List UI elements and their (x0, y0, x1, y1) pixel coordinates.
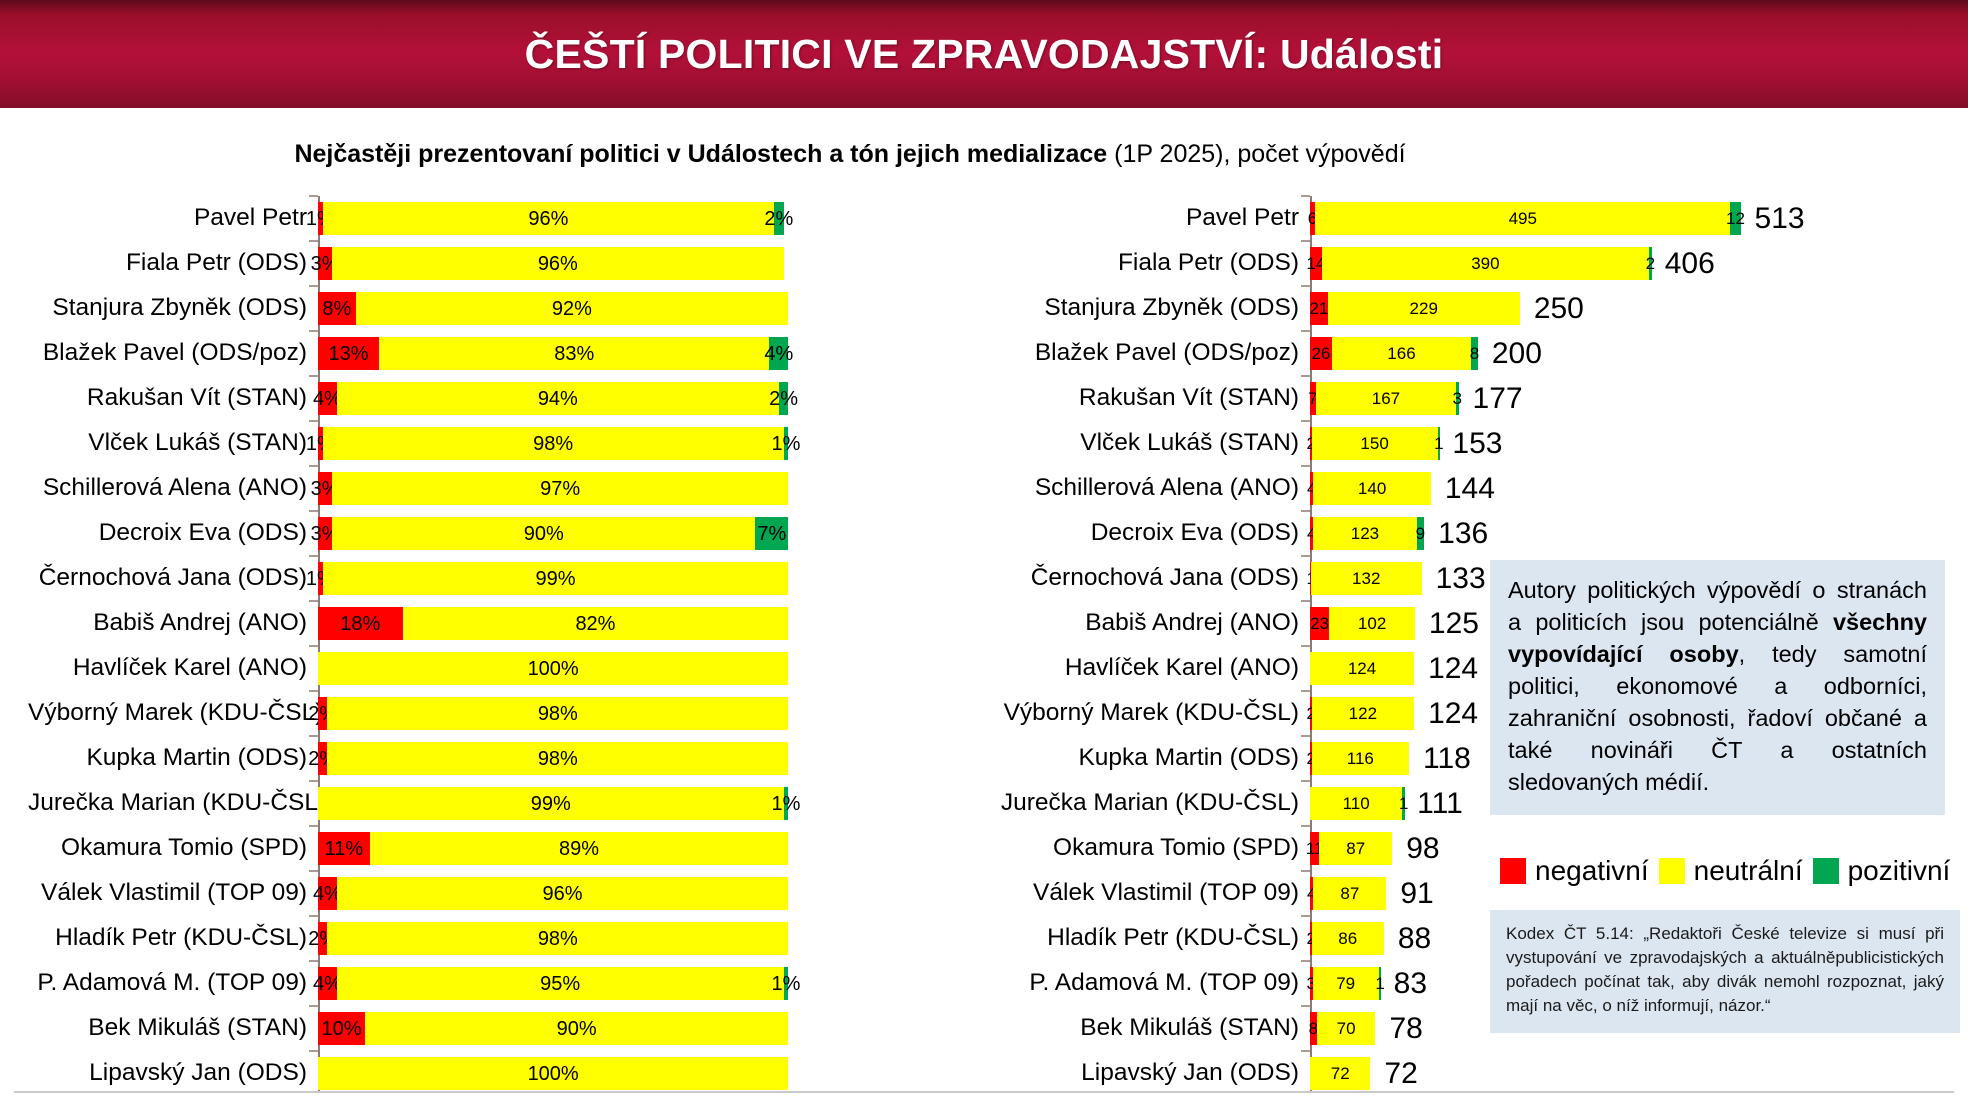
bar-total-label: 78 (1389, 1014, 1422, 1044)
chart-row: Stanjura Zbyněk (ODS)8%92% (28, 286, 963, 331)
bar-track: 41239136 (1310, 517, 1700, 550)
bar-total-label: 144 (1445, 474, 1495, 504)
bar-value-label: 12 (1726, 210, 1745, 227)
chart-row: Stanjura Zbyněk (ODS)21229250 (1000, 286, 1700, 331)
bar-segment-neutral: 96% (332, 247, 783, 280)
bar-segment-neutral: 140 (1313, 472, 1431, 505)
axis-tick (309, 645, 318, 647)
axis-tick (1301, 825, 1310, 827)
bar-value-label: 100% (528, 1064, 579, 1084)
category-label: Okamura Tomio (SPD) (28, 836, 318, 861)
bar-value-label: 100% (528, 659, 579, 679)
bar-track: 1%99% (318, 562, 963, 595)
category-label: P. Adamová M. (TOP 09) (28, 971, 318, 996)
bar-track: 71673177 (1310, 382, 1700, 415)
chart-row: Černochová Jana (ODS)1%99% (28, 556, 963, 601)
bar-total-label: 250 (1534, 294, 1584, 324)
bar-value-label: 390 (1471, 255, 1499, 272)
axis-tick (1301, 1005, 1310, 1007)
bar-track: 4%96% (318, 877, 963, 910)
bar-segment-neutral: 96% (337, 877, 788, 910)
bar-track: 3%96% (318, 247, 963, 280)
chart-row: Vlček Lukáš (STAN)21501153 (1000, 421, 1700, 466)
chart-row: Fiala Petr (ODS)3%96% (28, 241, 963, 286)
axis-tick (309, 510, 318, 512)
bar-segment-negative: 26 (1310, 337, 1332, 370)
bar-track: 99%1% (318, 787, 963, 820)
bar-value-label: 2% (769, 389, 798, 409)
category-label: Výborný Marek (KDU-ČSL) (1000, 701, 1310, 726)
bar-track: 8%92% (318, 292, 963, 325)
bar-value-label: 10% (321, 1019, 361, 1039)
bar-value-label: 132 (1352, 570, 1380, 587)
bar-segment-neutral: 97% (332, 472, 788, 505)
info-note-box: Autory politických výpovědí o stranách a… (1490, 560, 1945, 815)
bar-segment-neutral: 87 (1319, 832, 1392, 865)
axis-tick (309, 240, 318, 242)
bar-segment-negative: 2% (318, 742, 327, 775)
category-label: Válek Vlastimil (TOP 09) (28, 881, 318, 906)
category-label: Schillerová Alena (ANO) (1000, 476, 1310, 501)
bar-segment-neutral: 83% (379, 337, 769, 370)
bar-total-label: 91 (1400, 879, 1433, 909)
chart-row: Vlček Lukáš (STAN)1%98%1% (28, 421, 963, 466)
category-label: Lipavský Jan (ODS) (1000, 1061, 1310, 1086)
category-label: Havlíček Karel (ANO) (1000, 656, 1310, 681)
bar-track: 261668200 (1310, 337, 1700, 370)
bar-segment-neutral: 122 (1312, 697, 1414, 730)
bar-segment-positive: 1% (784, 967, 789, 1000)
legend-swatch-positive-icon (1813, 858, 1839, 884)
axis-tick (1301, 555, 1310, 557)
category-label: Fiala Petr (ODS) (1000, 251, 1310, 276)
bar-value-label: 8 (1470, 345, 1479, 362)
category-label: Kupka Martin (ODS) (28, 746, 318, 771)
bar-track: 4%95%1% (318, 967, 963, 1000)
bar-segment-neutral: 100% (318, 652, 788, 685)
bar-value-label: 87 (1346, 840, 1365, 857)
bar-segment-positive: 1 (1402, 787, 1405, 820)
bar-segment-negative: 4% (318, 382, 337, 415)
axis-tick (309, 555, 318, 557)
axis-tick (309, 1050, 318, 1052)
bar-value-label: 122 (1349, 705, 1377, 722)
bar-segment-positive: 1 (1438, 427, 1441, 460)
bar-value-label: 2% (764, 209, 793, 229)
bar-total-label: 513 (1755, 204, 1805, 234)
axis-tick (1301, 330, 1310, 332)
axis-tick (1301, 645, 1310, 647)
category-label: Decroix Eva (ODS) (1000, 521, 1310, 546)
axis-tick (309, 285, 318, 287)
category-label: Bek Mikuláš (STAN) (28, 1016, 318, 1041)
axis-tick (309, 330, 318, 332)
bar-track: 143902406 (1310, 247, 1700, 280)
bar-segment-negative: 4% (318, 877, 337, 910)
bar-segment-negative: 3% (318, 517, 332, 550)
bar-segment-negative: 8% (318, 292, 356, 325)
chart-row: P. Adamová M. (TOP 09)4%95%1% (28, 961, 963, 1006)
legend-label-negative: negativní (1535, 855, 1649, 887)
bar-segment-positive: 7% (755, 517, 788, 550)
bar-value-label: 97% (540, 479, 580, 499)
bar-track: 11%89% (318, 832, 963, 865)
bar-total-label: 200 (1492, 339, 1542, 369)
bar-segment-negative: 11% (318, 832, 370, 865)
axis-tick (309, 420, 318, 422)
bar-total-label: 83 (1394, 969, 1427, 999)
axis-tick (1301, 240, 1310, 242)
bar-total-label: 124 (1428, 699, 1478, 729)
bar-value-label: 9 (1416, 525, 1425, 542)
chart-row: Okamura Tomio (SPD)11%89% (28, 826, 963, 871)
bar-value-label: 70 (1337, 1020, 1356, 1037)
axis-tick (1301, 915, 1310, 917)
bar-segment-negative: 11 (1310, 832, 1319, 865)
bar-segment-neutral: 100% (318, 1057, 788, 1090)
chart-subtitle-bold: Nejčastěji prezentovaní politici v Událo… (294, 140, 1107, 168)
bar-value-label: 166 (1387, 345, 1415, 362)
bar-segment-neutral: 150 (1312, 427, 1438, 460)
category-label: Výborný Marek (KDU-ČSL) (28, 701, 318, 726)
chart-row: Pavel Petr1%96%2% (28, 196, 963, 241)
category-label: Babiš Andrej (ANO) (1000, 611, 1310, 636)
bar-segment-neutral: 495 (1315, 202, 1730, 235)
category-label: Okamura Tomio (SPD) (1000, 836, 1310, 861)
bar-segment-neutral: 110 (1310, 787, 1402, 820)
chart-row: Lipavský Jan (ODS)7272 (1000, 1051, 1700, 1096)
bar-value-label: 1% (771, 794, 800, 814)
chart-row: Rakušan Vít (STAN)71673177 (1000, 376, 1700, 421)
bar-track: 2%98% (318, 697, 963, 730)
chart-row: Hladík Petr (KDU-ČSL)2%98% (28, 916, 963, 961)
bar-value-label: 83% (554, 344, 594, 364)
bar-track: 1%98%1% (318, 427, 963, 460)
chart-row: Decroix Eva (ODS)41239136 (1000, 511, 1700, 556)
axis-tick (1301, 465, 1310, 467)
chart-row: Schillerová Alena (ANO)4140144 (1000, 466, 1700, 511)
bar-segment-neutral: 87 (1313, 877, 1386, 910)
bar-track: 2%98% (318, 742, 963, 775)
bar-segment-positive: 2% (774, 202, 783, 235)
bar-track: 649512513 (1310, 202, 1700, 235)
bar-segment-neutral: 102 (1329, 607, 1415, 640)
category-label: Vlček Lukáš (STAN) (1000, 431, 1310, 456)
bar-segment-neutral: 90% (332, 517, 755, 550)
bar-segment-positive: 8 (1471, 337, 1478, 370)
axis-tick (1301, 510, 1310, 512)
category-label: Kupka Martin (ODS) (1000, 746, 1310, 771)
bar-total-label: 153 (1452, 429, 1502, 459)
bar-value-label: 1% (771, 974, 800, 994)
bar-segment-neutral: 116 (1312, 742, 1409, 775)
bar-segment-positive: 3 (1456, 382, 1459, 415)
bar-total-label: 133 (1436, 564, 1486, 594)
chart-subtitle: Nejčastěji prezentovaní politici v Událo… (0, 140, 1700, 169)
bar-segment-neutral: 98% (327, 922, 788, 955)
bar-track: 10%90% (318, 1012, 963, 1045)
legend-swatch-neutral-icon (1659, 858, 1685, 884)
bar-value-label: 21 (1309, 300, 1328, 317)
bar-total-label: 98 (1406, 834, 1439, 864)
category-label: Decroix Eva (ODS) (28, 521, 318, 546)
category-label: Jurečka Marian (KDU-ČSL) (1000, 791, 1310, 816)
bar-value-label: 1 (1375, 975, 1384, 992)
axis-tick (309, 375, 318, 377)
category-label: Stanjura Zbyněk (ODS) (28, 296, 318, 321)
bar-value-label: 1 (1399, 795, 1408, 812)
axis-tick (1301, 960, 1310, 962)
bar-value-label: 8% (322, 299, 351, 319)
category-label: P. Adamová M. (TOP 09) (1000, 971, 1310, 996)
bar-value-label: 3 (1453, 390, 1462, 407)
bar-value-label: 116 (1347, 750, 1374, 767)
category-label: Blažek Pavel (ODS/poz) (28, 341, 318, 366)
axis-tick (1301, 690, 1310, 692)
bar-segment-negative: 21 (1310, 292, 1328, 325)
legend-item-negative: negativní (1500, 855, 1649, 887)
bar-value-label: 123 (1351, 525, 1379, 542)
bar-value-label: 72 (1331, 1065, 1350, 1082)
bar-track: 13%83%4% (318, 337, 963, 370)
bar-segment-positive: 1% (784, 787, 789, 820)
bar-track: 2%98% (318, 922, 963, 955)
bar-total-label: 125 (1429, 609, 1479, 639)
category-label: Hladík Petr (KDU-ČSL) (1000, 926, 1310, 951)
bar-total-label: 177 (1473, 384, 1523, 414)
legend-swatch-negative-icon (1500, 858, 1526, 884)
bar-total-label: 136 (1438, 519, 1488, 549)
chart-row: Jurečka Marian (KDU-ČSL)99%1% (28, 781, 963, 826)
axis-tick (1301, 870, 1310, 872)
bar-segment-negative: 2% (318, 922, 327, 955)
axis-tick (309, 465, 318, 467)
category-label: Pavel Petr (1000, 206, 1310, 231)
bar-segment-neutral: 79 (1313, 967, 1379, 1000)
bar-value-label: 124 (1348, 660, 1376, 677)
bar-track: 100% (318, 652, 963, 685)
bar-segment-positive: 2% (779, 382, 788, 415)
bar-total-label: 111 (1417, 789, 1463, 819)
bar-segment-neutral: 99% (318, 787, 784, 820)
bar-track: 4%94%2% (318, 382, 963, 415)
bar-segment-positive: 1 (1379, 967, 1382, 1000)
chart-row: Havlíček Karel (ANO)100% (28, 646, 963, 691)
bar-value-label: 4% (764, 344, 793, 364)
bar-value-label: 26 (1311, 345, 1330, 362)
category-label: Válek Vlastimil (TOP 09) (1000, 881, 1310, 906)
category-label: Černochová Jana (ODS) (1000, 566, 1310, 591)
bar-segment-positive: 4% (769, 337, 788, 370)
bar-segment-neutral: 95% (337, 967, 784, 1000)
chart-row: Kupka Martin (ODS)2%98% (28, 736, 963, 781)
bar-segment-neutral: 132 (1311, 562, 1422, 595)
bar-value-label: 1 (1434, 435, 1443, 452)
bar-value-label: 495 (1509, 210, 1537, 227)
bar-value-label: 229 (1410, 300, 1438, 317)
chart-row: Schillerová Alena (ANO)3%97% (28, 466, 963, 511)
bar-value-label: 167 (1372, 390, 1400, 407)
bar-track: 1%96%2% (318, 202, 963, 235)
legend-label-positive: pozitivní (1848, 855, 1951, 887)
legend-item-neutral: neutrální (1659, 855, 1803, 887)
chart-row: Decroix Eva (ODS)3%90%7% (28, 511, 963, 556)
bar-value-label: 95% (540, 974, 580, 994)
bar-segment-neutral: 98% (327, 742, 788, 775)
chart-row: Blažek Pavel (ODS/poz)13%83%4% (28, 331, 963, 376)
bar-value-label: 96% (543, 884, 583, 904)
bar-value-label: 99% (531, 794, 571, 814)
kodex-quote-box: Kodex ČT 5.14: „Redaktoři České televize… (1490, 910, 1960, 1033)
bar-segment-negative: 3% (318, 472, 332, 505)
axis-tick (1301, 285, 1310, 287)
chart-row: Výborný Marek (KDU-ČSL)2%98% (28, 691, 963, 736)
bar-value-label: 1% (771, 434, 800, 454)
axis-tick (309, 195, 318, 197)
axis-tick (309, 1005, 318, 1007)
bar-segment-negative: 14 (1310, 247, 1322, 280)
bar-track: 21229250 (1310, 292, 1700, 325)
bar-track: 18%82% (318, 607, 963, 640)
bar-value-label: 94% (538, 389, 578, 409)
category-label: Rakušan Vít (STAN) (28, 386, 318, 411)
bar-value-label: 140 (1358, 480, 1386, 497)
bar-value-label: 150 (1360, 435, 1388, 452)
bar-value-label: 2 (1646, 255, 1655, 272)
bar-segment-positive: 1% (784, 427, 789, 460)
bar-value-label: 96% (528, 209, 568, 229)
bar-total-label: 88 (1398, 924, 1431, 954)
bar-segment-negative: 4% (318, 967, 337, 1000)
slide-root: ČEŠTÍ POLITICI VE ZPRAVODAJSTVÍ: Událost… (0, 0, 1968, 1113)
category-label: Schillerová Alena (ANO) (28, 476, 318, 501)
category-label: Hladík Petr (KDU-ČSL) (28, 926, 318, 951)
bar-segment-neutral: 167 (1316, 382, 1456, 415)
bar-segment-neutral: 86 (1312, 922, 1384, 955)
bar-segment-negative: 10% (318, 1012, 365, 1045)
axis-tick (1301, 735, 1310, 737)
chart-legend: negativní neutrální pozitivní (1500, 855, 1950, 887)
bar-value-label: 92% (552, 299, 592, 319)
bar-total-label: 118 (1423, 744, 1471, 774)
bar-segment-neutral: 390 (1322, 247, 1649, 280)
bar-segment-negative: 23 (1310, 607, 1329, 640)
bar-value-label: 98% (538, 704, 578, 724)
category-label: Babiš Andrej (ANO) (28, 611, 318, 636)
bar-value-label: 90% (557, 1019, 597, 1039)
bar-value-label: 98% (533, 434, 573, 454)
axis-tick (309, 690, 318, 692)
title-banner: ČEŠTÍ POLITICI VE ZPRAVODAJSTVÍ: Událost… (0, 0, 1968, 108)
chart-percent: Pavel Petr1%96%2%Fiala Petr (ODS)3%96%St… (28, 196, 963, 1096)
bar-value-label: 7% (757, 524, 786, 544)
legend-item-positive: pozitivní (1813, 855, 1951, 887)
bar-segment-negative: 8 (1310, 1012, 1317, 1045)
category-label: Rakušan Vít (STAN) (1000, 386, 1310, 411)
chart-row: Lipavský Jan (ODS)100% (28, 1051, 963, 1096)
bar-segment-neutral: 94% (337, 382, 779, 415)
bar-segment-neutral: 82% (403, 607, 789, 640)
bar-segment-positive: 9 (1417, 517, 1425, 550)
chart-row: Pavel Petr649512513 (1000, 196, 1700, 241)
axis-tick (309, 780, 318, 782)
bar-segment-neutral: 99% (323, 562, 789, 595)
bar-value-label: 98% (538, 929, 578, 949)
bar-value-label: 86 (1338, 930, 1357, 947)
bar-track: 100% (318, 1057, 963, 1090)
chart-row: Válek Vlastimil (TOP 09)4%96% (28, 871, 963, 916)
axis-tick (1301, 195, 1310, 197)
bar-value-label: 79 (1336, 975, 1355, 992)
bar-value-label: 102 (1358, 615, 1386, 632)
category-label: Černochová Jana (ODS) (28, 566, 318, 591)
axis-tick (1301, 1050, 1310, 1052)
chart-row: Fiala Petr (ODS)143902406 (1000, 241, 1700, 286)
axis-tick (309, 600, 318, 602)
bar-segment-negative: 3% (318, 247, 332, 280)
category-label: Lipavský Jan (ODS) (28, 1061, 318, 1086)
bar-segment-neutral: 229 (1328, 292, 1520, 325)
bar-value-label: 87 (1340, 885, 1359, 902)
chart-row: Bek Mikuláš (STAN)10%90% (28, 1006, 963, 1051)
bar-total-label: 406 (1665, 249, 1715, 279)
chart-subtitle-rest: (1P 2025), počet výpovědí (1107, 140, 1405, 168)
bar-track: 3%97% (318, 472, 963, 505)
page-title: ČEŠTÍ POLITICI VE ZPRAVODAJSTVÍ: Událost… (525, 31, 1444, 78)
category-label: Stanjura Zbyněk (ODS) (1000, 296, 1310, 321)
bar-value-label: 90% (524, 524, 564, 544)
category-label: Havlíček Karel (ANO) (28, 656, 318, 681)
bar-segment-neutral: 98% (323, 427, 784, 460)
bar-segment-neutral: 166 (1332, 337, 1471, 370)
category-label: Bek Mikuláš (STAN) (1000, 1016, 1310, 1041)
axis-tick (309, 915, 318, 917)
bar-total-label: 72 (1384, 1059, 1417, 1089)
bar-track: 7272 (1310, 1057, 1700, 1090)
bar-segment-neutral: 90% (365, 1012, 788, 1045)
bar-segment-positive: 12 (1730, 202, 1740, 235)
bar-segment-positive: 2 (1649, 247, 1652, 280)
bar-value-label: 23 (1310, 615, 1329, 632)
bar-segment-neutral: 72 (1310, 1057, 1370, 1090)
category-label: Fiala Petr (ODS) (28, 251, 318, 276)
axis-tick (309, 960, 318, 962)
bar-value-label: 98% (538, 749, 578, 769)
chart-row: Blažek Pavel (ODS/poz)261668200 (1000, 331, 1700, 376)
bar-track: 4140144 (1310, 472, 1700, 505)
bar-track: 3%90%7% (318, 517, 963, 550)
category-label: Blažek Pavel (ODS/poz) (1000, 341, 1310, 366)
axis-tick (309, 870, 318, 872)
bar-value-label: 13% (329, 344, 369, 364)
bar-segment-negative: 13% (318, 337, 379, 370)
bar-value-label: 89% (559, 839, 599, 859)
legend-label-neutral: neutrální (1694, 855, 1803, 887)
category-label: Pavel Petr (28, 206, 318, 231)
bar-segment-neutral: 70 (1317, 1012, 1376, 1045)
bar-segment-neutral: 123 (1313, 517, 1416, 550)
axis-tick (1301, 420, 1310, 422)
bar-value-label: 18% (340, 614, 380, 634)
bar-segment-neutral: 89% (370, 832, 789, 865)
chart-row: Rakušan Vít (STAN)4%94%2% (28, 376, 963, 421)
bar-value-label: 11% (325, 839, 364, 859)
bar-segment-negative: 18% (318, 607, 403, 640)
bar-value-label: 110 (1343, 795, 1370, 812)
bar-total-label: 124 (1428, 654, 1478, 684)
axis-tick (309, 735, 318, 737)
axis-tick (1301, 600, 1310, 602)
